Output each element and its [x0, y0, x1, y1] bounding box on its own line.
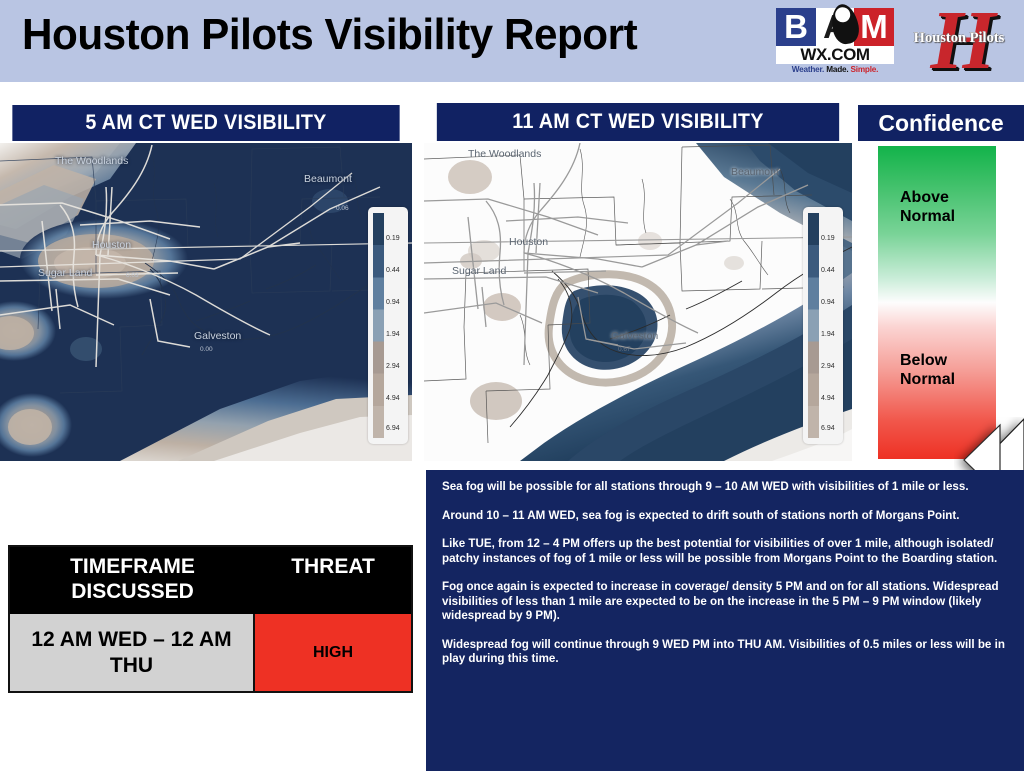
confidence-above-line2: Normal — [900, 207, 955, 226]
map-left-value-label: 0.03 — [126, 272, 139, 279]
bamwx-logo: B A M WX.COM Weather. Made. Simple. — [776, 8, 894, 76]
timeframe-column-header: TIMEFRAME DISCUSSED — [10, 554, 255, 604]
map-left-value-label: 0.06 — [336, 205, 349, 212]
tagline-made: Made. — [826, 65, 848, 74]
colorbar-right-ticks: 0.19 0.44 0.94 1.94 2.94 4.94 6.94 — [821, 213, 843, 438]
page-title: Houston Pilots Visibility Report — [22, 10, 637, 60]
right-map-header: 11 AM CT WED VISIBILITY — [437, 103, 839, 141]
visibility-map-11am[interactable]: The Woodlands Beaumont Houston Sugar Lan… — [424, 143, 852, 461]
timeframe-threat-table: TIMEFRAME DISCUSSED THREAT 12 AM WED – 1… — [8, 545, 413, 693]
colorbar-left-gradient — [373, 213, 384, 438]
bamwx-letters: B A M — [776, 8, 894, 46]
discussion-paragraph: Sea fog will be possible for all station… — [442, 480, 1010, 495]
colorbar-tick: 0.44 — [821, 267, 835, 274]
bamwx-domain: WX.COM — [776, 46, 894, 64]
timeframe-value: 12 AM WED – 12 AM THU — [10, 627, 253, 679]
timeframe-value-cell: 12 AM WED – 12 AM THU — [10, 614, 255, 691]
colorbar-left: 0.19 0.44 0.94 1.94 2.94 4.94 6.94 — [368, 207, 408, 444]
colorbar-tick: 0.94 — [821, 299, 835, 306]
confidence-panel: Above Normal Below Normal — [858, 146, 1024, 461]
bamwx-letter-m: M — [854, 8, 894, 46]
hp-logo-text: Houston Pilots — [900, 30, 1018, 47]
confidence-below-line2: Normal — [900, 370, 955, 389]
map-right-graphic — [424, 143, 852, 461]
bamwx-letter-b: B — [776, 8, 816, 46]
threat-column-header: THREAT — [255, 554, 411, 579]
colorbar-tick: 6.94 — [821, 425, 835, 432]
left-map-header: 5 AM CT WED VISIBILITY — [12, 105, 399, 141]
colorbar-tick: 0.44 — [386, 267, 400, 274]
colorbar-tick: 6.94 — [386, 425, 400, 432]
colorbar-tick: 0.19 — [386, 235, 400, 242]
table-header-row: TIMEFRAME DISCUSSED THREAT — [10, 547, 411, 614]
tagline-weather: Weather. — [792, 65, 824, 74]
confidence-above-normal-label: Above Normal — [900, 188, 955, 226]
colorbar-tick: 2.94 — [821, 363, 835, 370]
threat-value: HIGH — [313, 644, 353, 662]
confidence-below-normal-label: Below Normal — [900, 351, 955, 389]
title-band: Houston Pilots Visibility Report B A M W… — [0, 0, 1024, 82]
threat-value-cell: HIGH — [255, 614, 411, 691]
colorbar-right-gradient — [808, 213, 819, 438]
map-left-value-label: 0.00 — [200, 346, 213, 353]
discussion-paragraph: Around 10 – 11 AM WED, sea fog is expect… — [442, 509, 1010, 524]
confidence-below-line1: Below — [900, 351, 955, 370]
colorbar-tick: 4.94 — [386, 395, 400, 402]
houston-pilots-logo: H Houston Pilots — [900, 6, 1018, 78]
discussion-paragraph: Like TUE, from 12 – 4 PM offers up the b… — [442, 537, 1010, 566]
discussion-panel: Sea fog will be possible for all station… — [426, 470, 1024, 771]
confidence-above-line1: Above — [900, 188, 955, 207]
map-left-graphic — [0, 143, 412, 461]
bamwx-tagline: Weather. Made. Simple. — [776, 64, 894, 76]
discussion-paragraph: Fog once again is expected to increase i… — [442, 580, 1010, 624]
colorbar-tick: 1.94 — [821, 331, 835, 338]
confidence-header: Confidence — [858, 105, 1024, 141]
discussion-paragraph: Widespread fog will continue through 9 W… — [442, 638, 1010, 667]
colorbar-right: 0.19 0.44 0.94 1.94 2.94 4.94 6.94 — [803, 207, 843, 444]
tagline-simple: Simple. — [851, 65, 879, 74]
colorbar-left-ticks: 0.19 0.44 0.94 1.94 2.94 4.94 6.94 — [386, 213, 408, 438]
colorbar-tick: 2.94 — [386, 363, 400, 370]
visibility-map-5am[interactable]: The Woodlands Beaumont Houston Sugar Lan… — [0, 143, 412, 461]
colorbar-tick: 0.19 — [821, 235, 835, 242]
map-right-value-label: 0.67 — [618, 346, 631, 353]
colorbar-tick: 1.94 — [386, 331, 400, 338]
colorbar-tick: 0.94 — [386, 299, 400, 306]
colorbar-tick: 4.94 — [821, 395, 835, 402]
